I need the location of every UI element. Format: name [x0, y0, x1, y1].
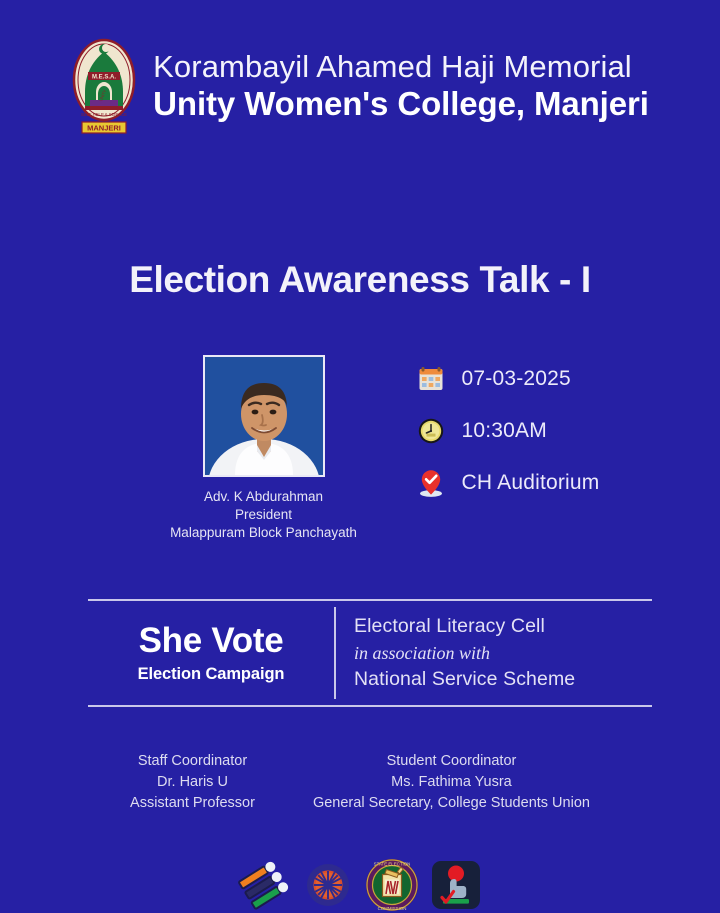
college-name-block: Korambayil Ahamed Haji Memorial Unity Wo… [153, 51, 649, 121]
speaker-caption: Adv. K Abdurahman President Malappuram B… [139, 488, 389, 541]
clock-icon [417, 417, 445, 445]
event-time: 10:30AM [462, 419, 547, 443]
campaign-brand-block: She Vote Election Campaign [88, 601, 334, 705]
event-details-list: 07-03-2025 10:30AM [417, 355, 600, 497]
mesa-manjeri-crest-icon: M.E.S.A. UNITY SELF HELP & SERVICE MANJE… [71, 36, 137, 136]
speaker-organization: Malappuram Block Panchayath [139, 524, 389, 542]
coordinators-section: Staff Coordinator Dr. Haris U Assistant … [0, 751, 720, 814]
staff-coordinator-block: Staff Coordinator Dr. Haris U Assistant … [130, 751, 255, 814]
nss-konark-wheel-logo-icon [300, 857, 356, 913]
voter-app-logo-icon [428, 857, 484, 913]
event-title: Election Awareness Talk - I [0, 259, 720, 301]
state-election-commission-kerala-seal-icon: STATE ELECTION COMMISSION [364, 857, 420, 913]
calendar-icon [417, 365, 445, 393]
partner-name: National Service Scheme [354, 666, 652, 694]
student-coordinator-role: Student Coordinator [313, 751, 590, 772]
association-text: in association with [354, 641, 652, 667]
organizer-name: Electoral Literacy Cell [354, 613, 652, 641]
event-info-section: Adv. K Abdurahman President Malappuram B… [0, 355, 720, 541]
svg-text:SELF HELP & SERVICE: SELF HELP & SERVICE [81, 112, 127, 117]
organizers-block: Electoral Literacy Cell in association w… [336, 601, 652, 705]
speaker-block: Adv. K Abdurahman President Malappuram B… [139, 355, 389, 541]
event-venue: CH Auditorium [462, 471, 600, 495]
event-venue-row: CH Auditorium [417, 469, 600, 497]
page-header: M.E.S.A. UNITY SELF HELP & SERVICE MANJE… [0, 0, 720, 136]
staff-coordinator-name: Dr. Haris U [130, 772, 255, 793]
footer-logos: STATE ELECTION COMMISSION [0, 857, 720, 913]
event-date-row: 07-03-2025 [417, 365, 600, 393]
svg-text:STATE ELECTION: STATE ELECTION [374, 862, 411, 867]
campaign-band: She Vote Election Campaign Electoral Lit… [88, 599, 652, 707]
svg-text:M.E.S.A.: M.E.S.A. [92, 75, 116, 81]
student-coordinator-designation: General Secretary, College Students Unio… [313, 793, 590, 814]
speaker-portrait-photo [203, 355, 325, 477]
campaign-subtitle: Election Campaign [138, 665, 285, 684]
event-date: 07-03-2025 [462, 367, 571, 391]
student-coordinator-name: Ms. Fathima Yusra [313, 772, 590, 793]
staff-coordinator-designation: Assistant Professor [130, 793, 255, 814]
eci-sveep-logo-icon [236, 857, 292, 913]
college-name-line-2: Unity Women's College, Manjeri [153, 87, 649, 121]
student-coordinator-block: Student Coordinator Ms. Fathima Yusra Ge… [313, 751, 590, 814]
svg-text:COMMISSION: COMMISSION [378, 906, 407, 911]
location-pin-icon [417, 469, 445, 497]
campaign-name: She Vote [139, 623, 284, 658]
svg-text:MANJERI: MANJERI [87, 124, 121, 133]
college-name-line-1: Korambayil Ahamed Haji Memorial [153, 51, 649, 83]
speaker-designation: President [139, 506, 389, 524]
staff-coordinator-role: Staff Coordinator [130, 751, 255, 772]
speaker-name: Adv. K Abdurahman [139, 488, 389, 506]
event-time-row: 10:30AM [417, 417, 600, 445]
